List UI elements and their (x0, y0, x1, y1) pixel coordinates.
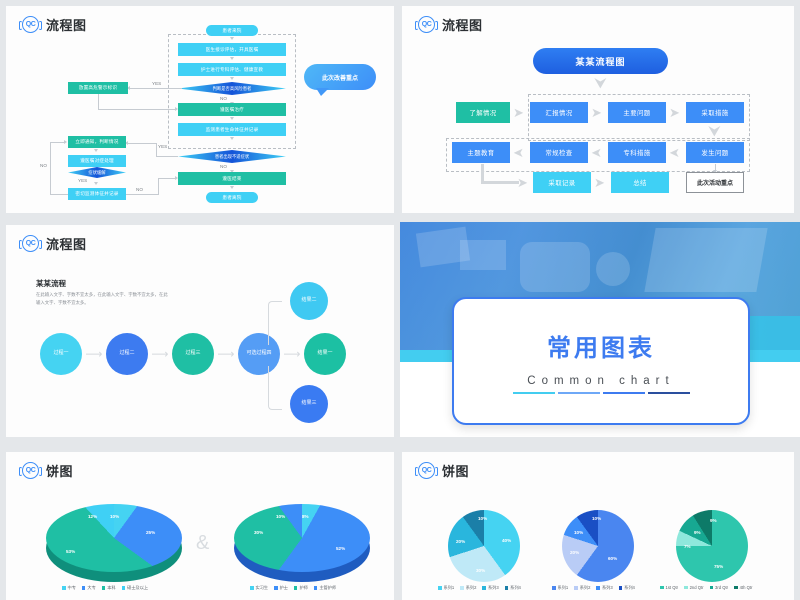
node-left2[interactable]: 遵医嘱对症处理 (68, 155, 126, 167)
slide-header: QC 流程图 (22, 234, 87, 253)
node-left3[interactable]: 密切监测体征并记录 (68, 188, 126, 200)
node-step5[interactable]: 遵医结束 (178, 172, 286, 185)
pie-d-label-3: 10% (592, 516, 601, 521)
page-title: 饼图 (442, 461, 469, 480)
slide-flowchart-process[interactable]: QC 流程图 某某流程图 ⮟ 了解情况 ➤ 汇报情况 ➤ 主要问题 ➤ 采取措施… (402, 6, 794, 213)
qc-logo-icon: QC (418, 462, 435, 479)
pie-c-label-1: 30% (476, 568, 485, 573)
row3-item-0[interactable]: 采取记录 (533, 172, 591, 193)
label-no: NO (136, 187, 143, 192)
legend-item: 2nd Qtr (684, 585, 703, 590)
photo-object-laptop (644, 228, 767, 292)
rule-seg-4 (648, 392, 690, 395)
pie-c-label-2: 20% (456, 539, 465, 544)
callout-bubble[interactable]: 此次改善重点 (304, 64, 376, 90)
legend-item: 护士 (274, 585, 288, 591)
label-yes: YES (158, 144, 167, 149)
activity-note[interactable]: 此次活动重点 (686, 172, 744, 193)
pie-e-label-0: 75% (714, 564, 723, 569)
connector-no-to-step5 (158, 178, 176, 179)
legend-item: 大专 (82, 585, 96, 591)
pie-e-label-1: 7% (684, 544, 691, 549)
pie-b-label-0: 8% (302, 514, 309, 519)
qc-logo-icon: QC (22, 16, 39, 33)
label-yes: YES (152, 81, 161, 86)
node-end[interactable]: 患者离院 (206, 192, 258, 203)
section-heading: 某某流程 (36, 278, 66, 289)
cover-rule (513, 392, 690, 395)
row2-item-2[interactable]: 专科措施 (608, 142, 666, 163)
legend-item: 硕士及以上 (122, 585, 148, 591)
page-title: 流程图 (46, 15, 87, 34)
node-left-decision[interactable]: 症状缓解 (68, 167, 126, 178)
arrow-right-icon: ⟶ (152, 347, 168, 361)
arrow-down-icon (230, 186, 234, 189)
pie-e-legend: 1st Qtr 2nd Qtr 3rd Qtr 4th Qtr (660, 585, 752, 590)
pie-c-label-0: 40% (502, 538, 511, 543)
slide-grid: QC 流程图 患者来院 医生接诊评估，开具医嘱 护士进行专科评估、健康宣教 判断… (0, 0, 800, 600)
pie-b-label-1: 52% (336, 546, 345, 551)
pie-b-legend: 实习生 护士 护师 主管护师 (250, 585, 336, 591)
section-body-text: 在此输入文字、字数不宜太多，在此输入文字、字数不宜太多，在此输入文字、字数不宜太… (36, 291, 168, 306)
circle-result-1[interactable]: 结果一 (304, 333, 346, 375)
arrow-left-icon: ➤ (590, 146, 603, 159)
row2-item-1[interactable]: 常规检查 (530, 142, 588, 163)
page-title: 饼图 (46, 461, 73, 480)
arrow-left-icon: ➤ (512, 146, 525, 159)
label-no: NO (220, 96, 227, 101)
legend-item: 中专 (62, 585, 76, 591)
photo-object-book (460, 240, 506, 270)
page-title: 流程图 (46, 234, 87, 253)
legend-item: 1st Qtr (660, 585, 678, 590)
legend-item: 系列3 (482, 585, 498, 591)
legend-item: 3rd Qtr (710, 585, 729, 590)
legend-item: 本科 (102, 585, 116, 591)
connector-d2-up (156, 143, 157, 157)
row1-item-3[interactable]: 采取措施 (686, 102, 744, 123)
circle-process-1[interactable]: 过程一 (40, 333, 82, 375)
node-step2[interactable]: 护士进行专科评估、健康宣教 (178, 63, 286, 76)
arrow-right-icon: ➤ (512, 106, 525, 119)
connector-d2-left (156, 156, 178, 157)
label-yes: YES (78, 178, 87, 183)
slide-header: QC 流程图 (22, 15, 87, 34)
pie-d-legend: 系列1 系列2 系列3 系列4 (552, 585, 635, 591)
connector-right-bottom (481, 181, 519, 184)
photo-object-hand (520, 242, 590, 292)
legend-item: 护师 (294, 585, 308, 591)
cover-title-en: Common chart (527, 375, 674, 387)
circle-process-2[interactable]: 过程二 (106, 333, 148, 375)
arrow-right-icon (64, 140, 67, 144)
qc-logo-icon: QC (418, 16, 435, 33)
row2-item-3[interactable]: 发生问题 (686, 142, 744, 163)
arrow-right-icon: ➤ (590, 106, 603, 119)
pie-a-label-0: 10% (110, 514, 119, 519)
pie-b-label-3: 10% (276, 514, 285, 519)
node-decision2[interactable]: 患者出现不适症状 (178, 150, 286, 163)
slide-header: QC 饼图 (418, 461, 469, 480)
arrow-down-icon: ⮟ (594, 76, 607, 90)
qc-logo-icon: QC (22, 235, 39, 252)
arrow-left-icon: ➤ (668, 146, 681, 159)
legend-item: 系列4 (619, 585, 635, 591)
circle-process-3[interactable]: 过程三 (172, 333, 214, 375)
connector-side-down (98, 94, 99, 109)
slide-cover[interactable]: 常用图表 Common chart (400, 222, 800, 437)
qc-logo-icon: QC (22, 462, 39, 479)
rule-seg-1 (513, 392, 555, 395)
circle-result-3[interactable]: 结果三 (290, 385, 328, 423)
arrow-down-icon (230, 57, 234, 60)
pie-a-label-3: 12% (88, 514, 97, 519)
label-no: NO (40, 163, 47, 168)
arrow-right-icon: ⟶ (284, 347, 300, 361)
node-step3[interactable]: 遵医嘱治疗 (178, 103, 286, 116)
pie-c-label-3: 10% (478, 516, 487, 521)
connector-loop-left (50, 142, 51, 194)
arrow-right-icon: ⟶ (218, 347, 234, 361)
process-title[interactable]: 某某流程图 (533, 48, 668, 74)
pie-a-label-2: 53% (66, 549, 75, 554)
cover-title-cn: 常用图表 (547, 328, 655, 363)
arrow-down-icon (94, 182, 98, 185)
bracket-up (268, 301, 282, 345)
connector-loop-bottom (50, 194, 68, 195)
legend-item: 系列1 (438, 585, 454, 591)
row1-item-0[interactable]: 了解情况 (456, 102, 510, 123)
arrow-right-icon: ⟶ (86, 347, 102, 361)
rule-seg-2 (558, 392, 600, 395)
connector-side-right (98, 109, 176, 110)
slide-header: QC 饼图 (22, 461, 73, 480)
arrow-down-icon (94, 149, 98, 152)
pie-d-label-0: 60% (608, 556, 617, 561)
pie-b-label-2: 30% (254, 530, 263, 535)
pie-a-label-1: 25% (146, 530, 155, 535)
row3-item-1[interactable]: 总结 (611, 172, 669, 193)
connector-loop-top (50, 142, 65, 143)
pie-e-label-2: 9% (694, 530, 701, 535)
cover-card: 常用图表 Common chart (452, 297, 750, 425)
legend-item: 系列2 (460, 585, 476, 591)
node-side-box[interactable]: 放置高危警示标识 (68, 82, 128, 94)
node-left1[interactable]: 立即通知，判断情况 (68, 136, 126, 148)
pie-d-label-1: 20% (570, 550, 579, 555)
pie-c-legend: 系列1 系列2 系列3 系列4 (438, 585, 521, 591)
circle-result-2[interactable]: 结果二 (290, 282, 328, 320)
legend-item: 系列4 (505, 585, 521, 591)
slide-pie-triple[interactable]: QC 饼图 40% 30% 20% 10% 系列1 系列2 系列3 系列4 60… (402, 452, 794, 600)
row1-item-1[interactable]: 汇报情况 (530, 102, 588, 123)
photo-object-cup (596, 252, 630, 286)
legend-item: 系列2 (574, 585, 590, 591)
legend-item: 主管护师 (314, 585, 336, 591)
arrow-right-icon: ➤ (593, 176, 606, 189)
rule-seg-3 (603, 392, 645, 395)
arrow-down-icon (230, 77, 234, 80)
slide-flowchart-circles[interactable]: QC 流程图 (6, 225, 394, 437)
arrow-right-icon: ➤ (668, 106, 681, 119)
arrow-down-icon (230, 137, 234, 140)
row2-item-0[interactable]: 主题教育 (452, 142, 510, 163)
ampersand-separator: & (196, 532, 209, 555)
pie-d-label-2: 10% (574, 530, 583, 535)
legend-item: 系列1 (552, 585, 568, 591)
node-step1[interactable]: 医生接诊评估，开具医嘱 (178, 43, 286, 56)
bracket-down (268, 366, 282, 410)
connector-no-up (158, 178, 159, 195)
slide-flowchart-clinical[interactable]: QC 流程图 患者来院 医生接诊评估，开具医嘱 护士进行专科评估、健康宣教 判断… (6, 6, 394, 213)
slide-header: QC 流程图 (418, 15, 483, 34)
slide-pie-pair[interactable]: QC 饼图 10% 25% 53% 12% 中专 大专 本科 硕士及以上 & 8… (6, 452, 394, 600)
row1-item-2[interactable]: 主要问题 (608, 102, 666, 123)
connector-yes-left (130, 88, 182, 89)
arrow-right-icon: ➤ (516, 176, 529, 189)
legend-item: 4th Qtr (734, 585, 752, 590)
legend-item: 系列3 (596, 585, 612, 591)
connector-left3-right (126, 194, 158, 195)
label-no: NO (220, 164, 227, 169)
arrow-down-icon: ⮟ (708, 124, 721, 138)
connector-d2-to-left (128, 143, 156, 144)
node-start[interactable]: 患者来院 (206, 25, 258, 36)
arrow-right-icon (175, 176, 178, 180)
node-step4[interactable]: 监测患者生命体征并记录 (178, 123, 286, 136)
arrow-down-icon (230, 37, 234, 40)
pie-a-legend: 中专 大专 本科 硕士及以上 (62, 585, 148, 591)
legend-item: 实习生 (250, 585, 268, 591)
arrow-down-icon (230, 117, 234, 120)
page-title: 流程图 (442, 15, 483, 34)
pie-e-label-3: 9% (710, 518, 717, 523)
